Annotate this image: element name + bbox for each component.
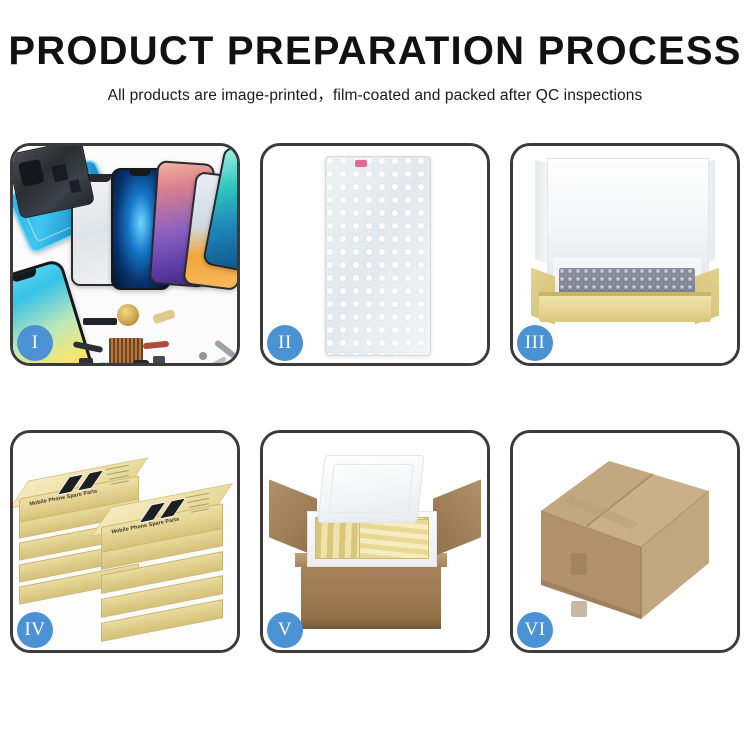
part-screw (199, 352, 207, 360)
step-badge-3: III (517, 325, 553, 361)
part-sim-tray (99, 362, 109, 363)
step-panel-4: Mobile Phone Spare Parts Mobile Phone Sp… (10, 430, 240, 653)
step-panel-2: II (260, 143, 490, 366)
carton-body (301, 559, 441, 629)
box-front-panel-yellow (539, 296, 711, 322)
step-badge-4: IV (17, 612, 53, 648)
part-camera-module (79, 358, 93, 363)
part-gold-flex (152, 309, 176, 324)
header: PRODUCT PREPARATION PROCESS All products… (0, 0, 750, 105)
part-antenna-strip (143, 341, 169, 350)
step-panel-3: III (510, 143, 740, 366)
step-badge-5: V (267, 612, 303, 648)
step-badge-2: II (267, 325, 303, 361)
step-panel-1: I (10, 143, 240, 366)
tool-tweezers (214, 339, 237, 359)
step-badge-1: I (17, 325, 53, 361)
step-badge-6: VI (517, 612, 553, 648)
packed-yellow-boxes-row-2 (359, 519, 429, 559)
steps-grid: I II (10, 143, 740, 653)
step-panel-5: V (260, 430, 490, 653)
page-subtitle: All products are image-printed，film-coat… (0, 83, 750, 105)
bubble-wrap-sleeve (325, 156, 431, 356)
part-connector (153, 356, 165, 363)
foam-box-lid (317, 455, 424, 523)
part-taptic-engine (133, 360, 149, 363)
part-battery-strip (83, 318, 117, 325)
carton-flap-right (433, 479, 481, 556)
part-speaker-coil (117, 304, 139, 326)
step-panel-6: VI (510, 430, 740, 653)
product-preparation-infographic: PRODUCT PREPARATION PROCESS All products… (0, 0, 750, 750)
pink-seal-tab (355, 160, 367, 167)
page-title: PRODUCT PREPARATION PROCESS (0, 30, 750, 72)
tool-screwdriver (209, 356, 227, 363)
